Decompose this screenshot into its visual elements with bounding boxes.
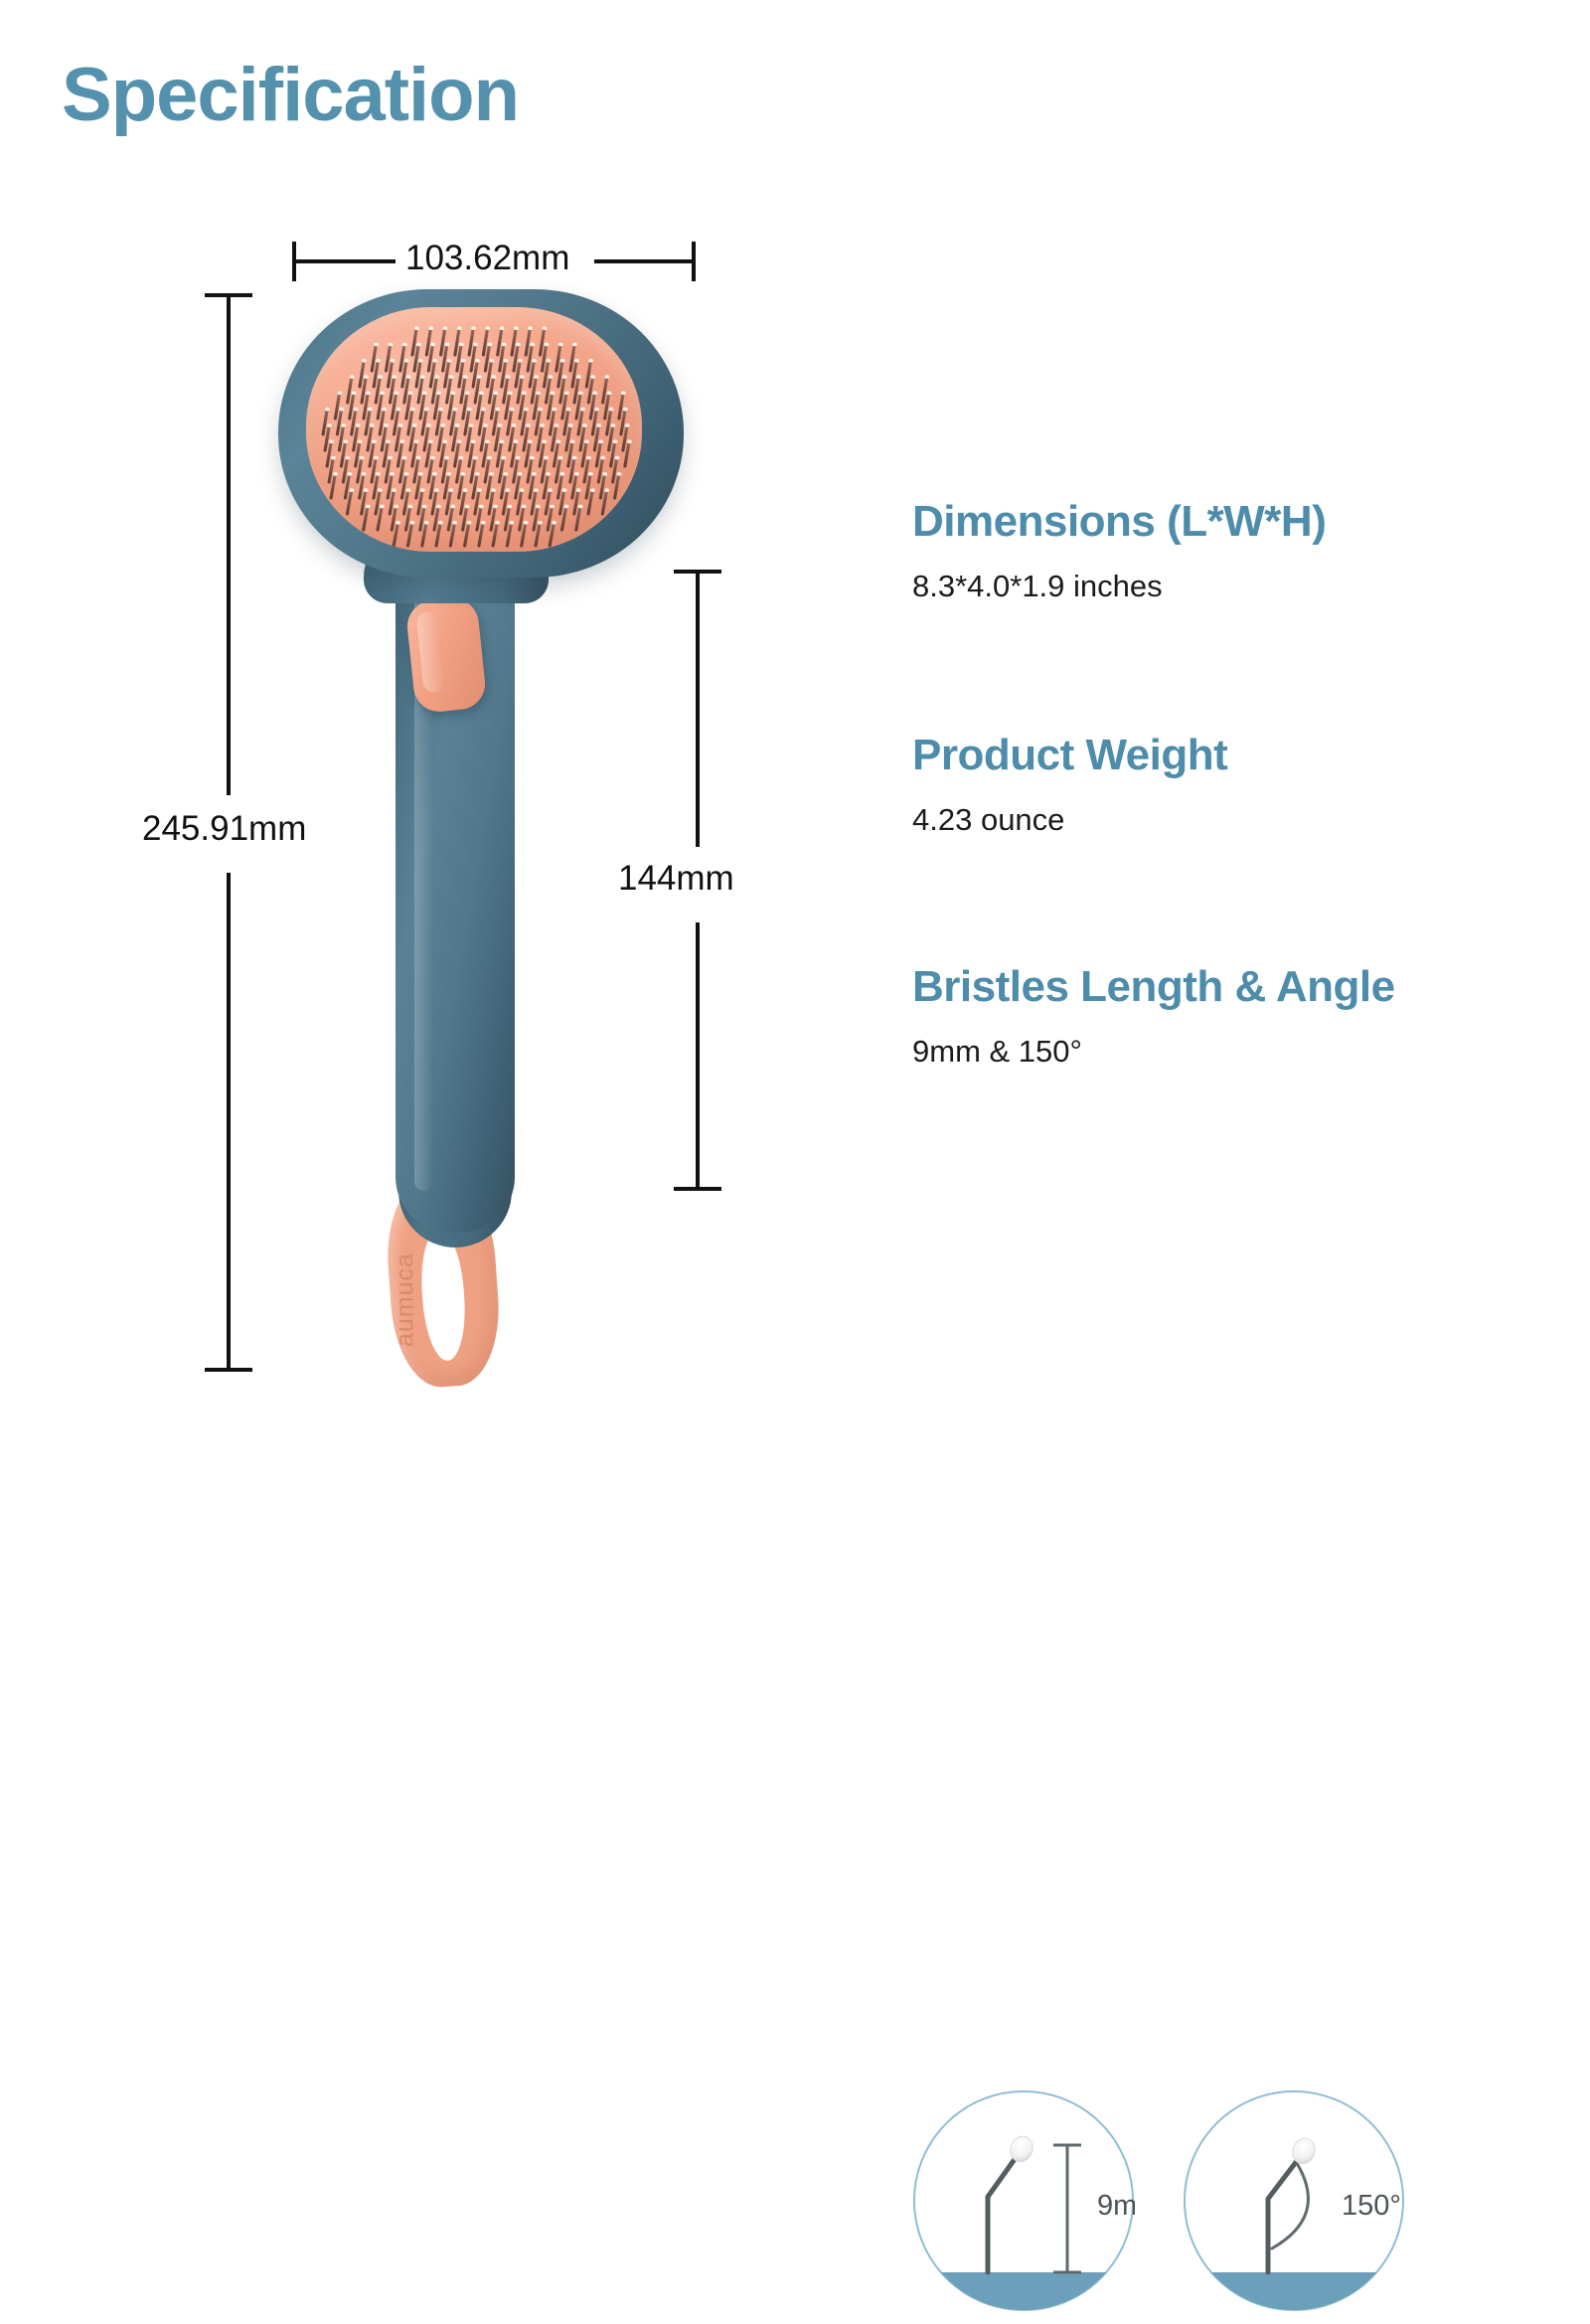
brush-pin-grid bbox=[306, 307, 642, 552]
spec-item-bristles: Bristles Length & Angle 9mm & 150° bbox=[912, 962, 1548, 1070]
spec-item-dimensions: Dimensions (L*W*H) 8.3*4.0*1.9 inches bbox=[912, 497, 1548, 604]
bristle-length-label: 9mm bbox=[1097, 2190, 1135, 2222]
spec-heading: Product Weight bbox=[912, 731, 1548, 779]
spec-value: 8.3*4.0*1.9 inches bbox=[912, 568, 1548, 604]
self-cleaning-release-button bbox=[404, 596, 487, 715]
pet-brush-product-image: aumuca bbox=[268, 283, 715, 1397]
spec-value: 4.23 ounce bbox=[912, 801, 1548, 838]
spec-heading: Bristles Length & Angle bbox=[912, 962, 1548, 1011]
spec-heading: Dimensions (L*W*H) bbox=[912, 497, 1548, 546]
bristle-diagram-row: 9mm bbox=[912, 2077, 1405, 2324]
bristle-length-diagram: 9mm bbox=[912, 2077, 1135, 2324]
dimension-label-width: 103.62mm bbox=[405, 239, 569, 278]
spec-item-weight: Product Weight 4.23 ounce bbox=[912, 731, 1548, 838]
product-illustration-stage: 103.62mm 245.91mm 144mm aumuca bbox=[0, 0, 874, 1590]
spec-value: 9mm & 150° bbox=[912, 1033, 1548, 1070]
brand-logo-text: aumuca bbox=[386, 1226, 425, 1375]
bristle-angle-label: 150° bbox=[1342, 2190, 1401, 2222]
specification-panel: Dimensions (L*W*H) 8.3*4.0*1.9 inches Pr… bbox=[912, 0, 1548, 1590]
bristle-angle-diagram: 150° bbox=[1183, 2077, 1405, 2324]
